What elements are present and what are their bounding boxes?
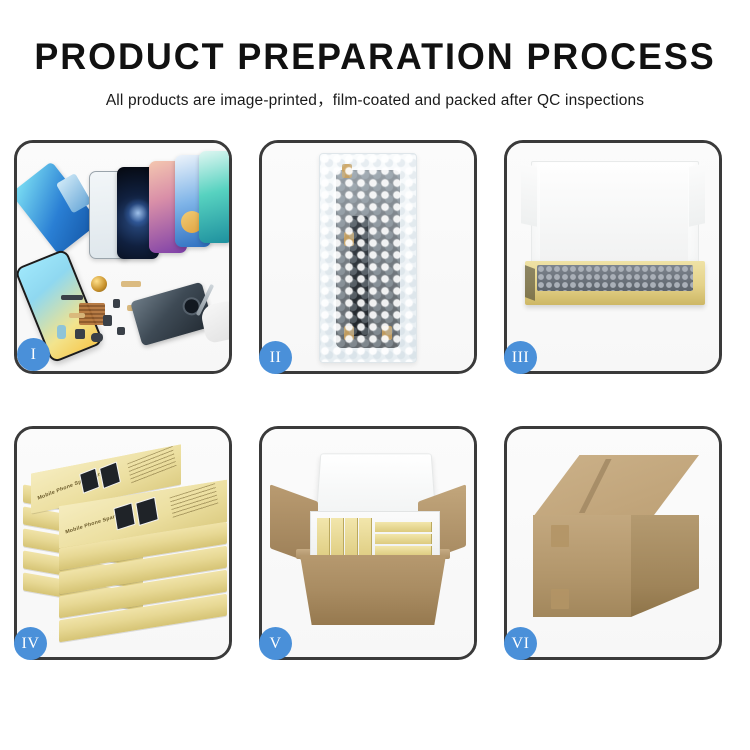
- spare-part-icon: [103, 315, 112, 326]
- spare-part-icon: [117, 327, 125, 335]
- spare-part-icon: [91, 333, 103, 342]
- step-panel-5[interactable]: V: [259, 426, 477, 660]
- step-1-image: [17, 143, 229, 371]
- phone-screen-blue-icon: [17, 161, 99, 254]
- tray-edge-icon: [525, 265, 535, 301]
- spare-part-icon: [75, 329, 85, 339]
- step-6-image: [507, 429, 719, 657]
- bubble-wrapped-contents-icon: [537, 265, 693, 291]
- phone-screen-teal-icon: [199, 151, 229, 243]
- yellow-box-tray-icon: [525, 261, 705, 305]
- flex-cable-icon: [121, 281, 141, 287]
- foam-sheet-icon: [540, 170, 688, 262]
- step-panel-1[interactable]: I: [14, 140, 232, 374]
- step-panel-4[interactable]: Mobile Phone Spare Parts Mobile Phone Sp…: [14, 426, 232, 660]
- step-2-image: [262, 143, 474, 371]
- lid-flap-left-icon: [521, 163, 537, 226]
- carton-top-face-icon: [533, 455, 699, 517]
- process-steps-grid: I II: [14, 140, 736, 660]
- step-badge-1: I: [17, 338, 50, 371]
- spare-part-icon: [61, 295, 83, 300]
- packed-yellow-box: [375, 546, 432, 556]
- spare-part-icon: [113, 299, 120, 308]
- bubble-wrap-bag-icon: [319, 153, 417, 363]
- step-badge-6: VI: [504, 627, 537, 660]
- step-badge-2: II: [259, 341, 292, 374]
- packing-tape-icon: [551, 589, 569, 609]
- carton-side-face-icon: [631, 515, 699, 617]
- page-subtitle: All products are image-printed，film-coat…: [0, 88, 750, 110]
- step-5-image: [262, 429, 474, 657]
- step-badge-5: V: [259, 627, 292, 660]
- spare-part-icon: [57, 325, 66, 339]
- page-title: PRODUCT PREPARATION PROCESS: [11, 38, 739, 77]
- bubble-texture-icon: [320, 154, 416, 362]
- step-panel-3[interactable]: III: [504, 140, 722, 374]
- shipping-carton-icon: [300, 555, 446, 625]
- step-badge-4: IV: [14, 627, 47, 660]
- step-4-image: Mobile Phone Spare Parts Mobile Phone Sp…: [17, 429, 229, 657]
- product-preparation-infographic: PRODUCT PREPARATION PROCESS All products…: [0, 0, 750, 750]
- step-panel-2[interactable]: II: [259, 140, 477, 374]
- packing-tape-icon: [551, 525, 569, 547]
- step-panel-6[interactable]: VI: [504, 426, 722, 660]
- packed-yellow-box: [375, 534, 432, 544]
- carton-front-face-icon: [533, 515, 631, 617]
- box-stack-icon: Mobile Phone Spare Parts Mobile Phone Sp…: [23, 443, 229, 647]
- packed-yellow-box: [375, 522, 432, 532]
- lid-flap-right-icon: [689, 163, 705, 226]
- header: PRODUCT PREPARATION PROCESS All products…: [0, 0, 750, 110]
- step-3-image: [507, 143, 719, 371]
- flex-cable-icon: [69, 313, 85, 318]
- foam-lid-icon: [531, 161, 699, 271]
- step-badge-3: III: [504, 341, 537, 374]
- copper-coil-icon: [91, 276, 107, 292]
